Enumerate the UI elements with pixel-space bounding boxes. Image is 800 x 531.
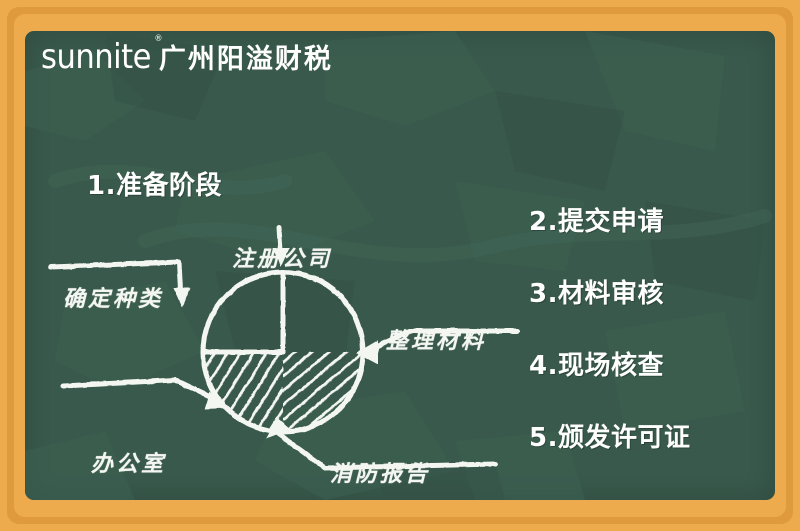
company-name-cn: 广州阳溢财税 xyxy=(159,43,333,77)
logo-wordmark-text: sunnite xyxy=(41,37,151,77)
registered-trademark-icon: ® xyxy=(154,35,162,44)
brand-lockup: sunnite ® 广州阳溢财税 xyxy=(41,37,333,77)
chalk-label-xiaofang: 消防报告 xyxy=(330,456,430,488)
logo-wordmark: sunnite ® xyxy=(41,37,151,77)
step-item-5: 5.颁发许可证 xyxy=(529,417,690,454)
chalk-label-zhuce: 注册公司 xyxy=(232,241,332,273)
pie-chart-sketch xyxy=(203,272,363,432)
chalk-label-bangongshi: 办公室 xyxy=(91,446,166,478)
chalk-label-queding: 确定种类 xyxy=(63,281,163,313)
step-item-3: 3.材料审核 xyxy=(529,273,664,310)
step-item-2: 2.提交申请 xyxy=(529,201,664,238)
steps-list: 2.提交申请 3.材料审核 4.现场核查 5.颁发许可证 xyxy=(529,201,759,454)
stage-heading-1: 1.准备阶段 xyxy=(87,165,222,202)
chalkboard: sunnite ® 广州阳溢财税 1.准备阶段 xyxy=(25,31,775,500)
poster-canvas: sunnite ® 广州阳溢财税 1.准备阶段 xyxy=(0,0,800,531)
chalk-label-zhengli: 整理材料 xyxy=(386,323,486,355)
step-item-4: 4.现场核查 xyxy=(529,345,664,382)
